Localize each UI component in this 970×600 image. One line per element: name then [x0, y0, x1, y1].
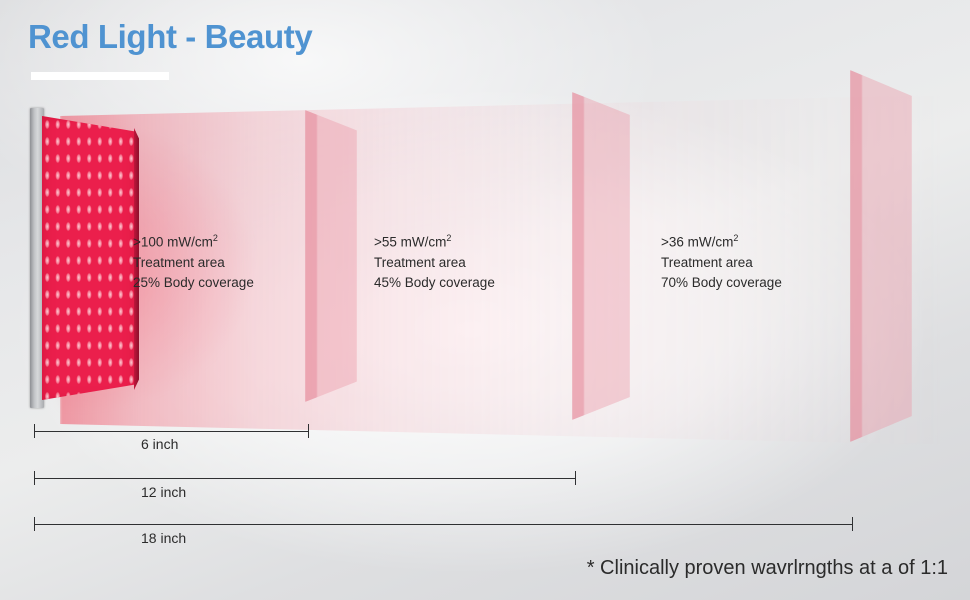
measure-cap-left-18inch — [34, 517, 35, 531]
zone-irradiance: >36 mW/cm2 — [661, 228, 782, 253]
zone-coverage: 70% Body coverage — [661, 273, 782, 293]
measure-cap-right-18inch — [852, 517, 853, 531]
distance-plane-18inch — [850, 70, 912, 442]
zone-area-label: Treatment area — [661, 253, 782, 273]
page-title: Red Light - Beauty — [28, 18, 312, 56]
measure-label-12inch: 12 inch — [141, 484, 186, 500]
zone-coverage: 25% Body coverage — [133, 273, 254, 293]
measure-label-6inch: 6 inch — [141, 436, 178, 452]
plane-edge — [850, 70, 862, 442]
zone-irradiance: >100 mW/cm2 — [133, 228, 254, 253]
unit-exponent: 2 — [446, 233, 451, 243]
panel-frame — [30, 108, 44, 408]
measure-line-6inch — [34, 431, 308, 432]
distance-plane-12inch — [572, 92, 630, 420]
measure-label-18inch: 18 inch — [141, 530, 186, 546]
measure-cap-right-12inch — [575, 471, 576, 485]
zone-coverage: 45% Body coverage — [374, 273, 495, 293]
plane-edge — [305, 110, 317, 402]
led-panel-device — [30, 108, 140, 408]
zone-area-label: Treatment area — [374, 253, 495, 273]
led-dots-pattern — [42, 116, 136, 400]
plane-edge — [572, 92, 584, 420]
zone-area-label: Treatment area — [133, 253, 254, 273]
measure-line-12inch — [34, 478, 575, 479]
zone-info-18inch: >36 mW/cm2 Treatment area 70% Body cover… — [661, 228, 782, 293]
distance-plane-6inch — [305, 110, 357, 402]
measure-cap-left-6inch — [34, 424, 35, 438]
footnote-text: * Clinically proven wavrlrngths at a of … — [587, 557, 948, 580]
zone-info-6inch: >100 mW/cm2 Treatment area 25% Body cove… — [133, 228, 254, 293]
unit-exponent: 2 — [733, 233, 738, 243]
zone-irradiance: >55 mW/cm2 — [374, 228, 495, 253]
zone-info-12inch: >55 mW/cm2 Treatment area 45% Body cover… — [374, 228, 495, 293]
led-array-surface — [42, 116, 136, 400]
measure-line-18inch — [34, 524, 852, 525]
title-underline — [31, 72, 169, 80]
measure-cap-right-6inch — [308, 424, 309, 438]
unit-exponent: 2 — [213, 233, 218, 243]
red-light-infographic: Red Light - Beauty >100 mW/cm2 Treatment… — [0, 0, 970, 600]
measure-cap-left-12inch — [34, 471, 35, 485]
